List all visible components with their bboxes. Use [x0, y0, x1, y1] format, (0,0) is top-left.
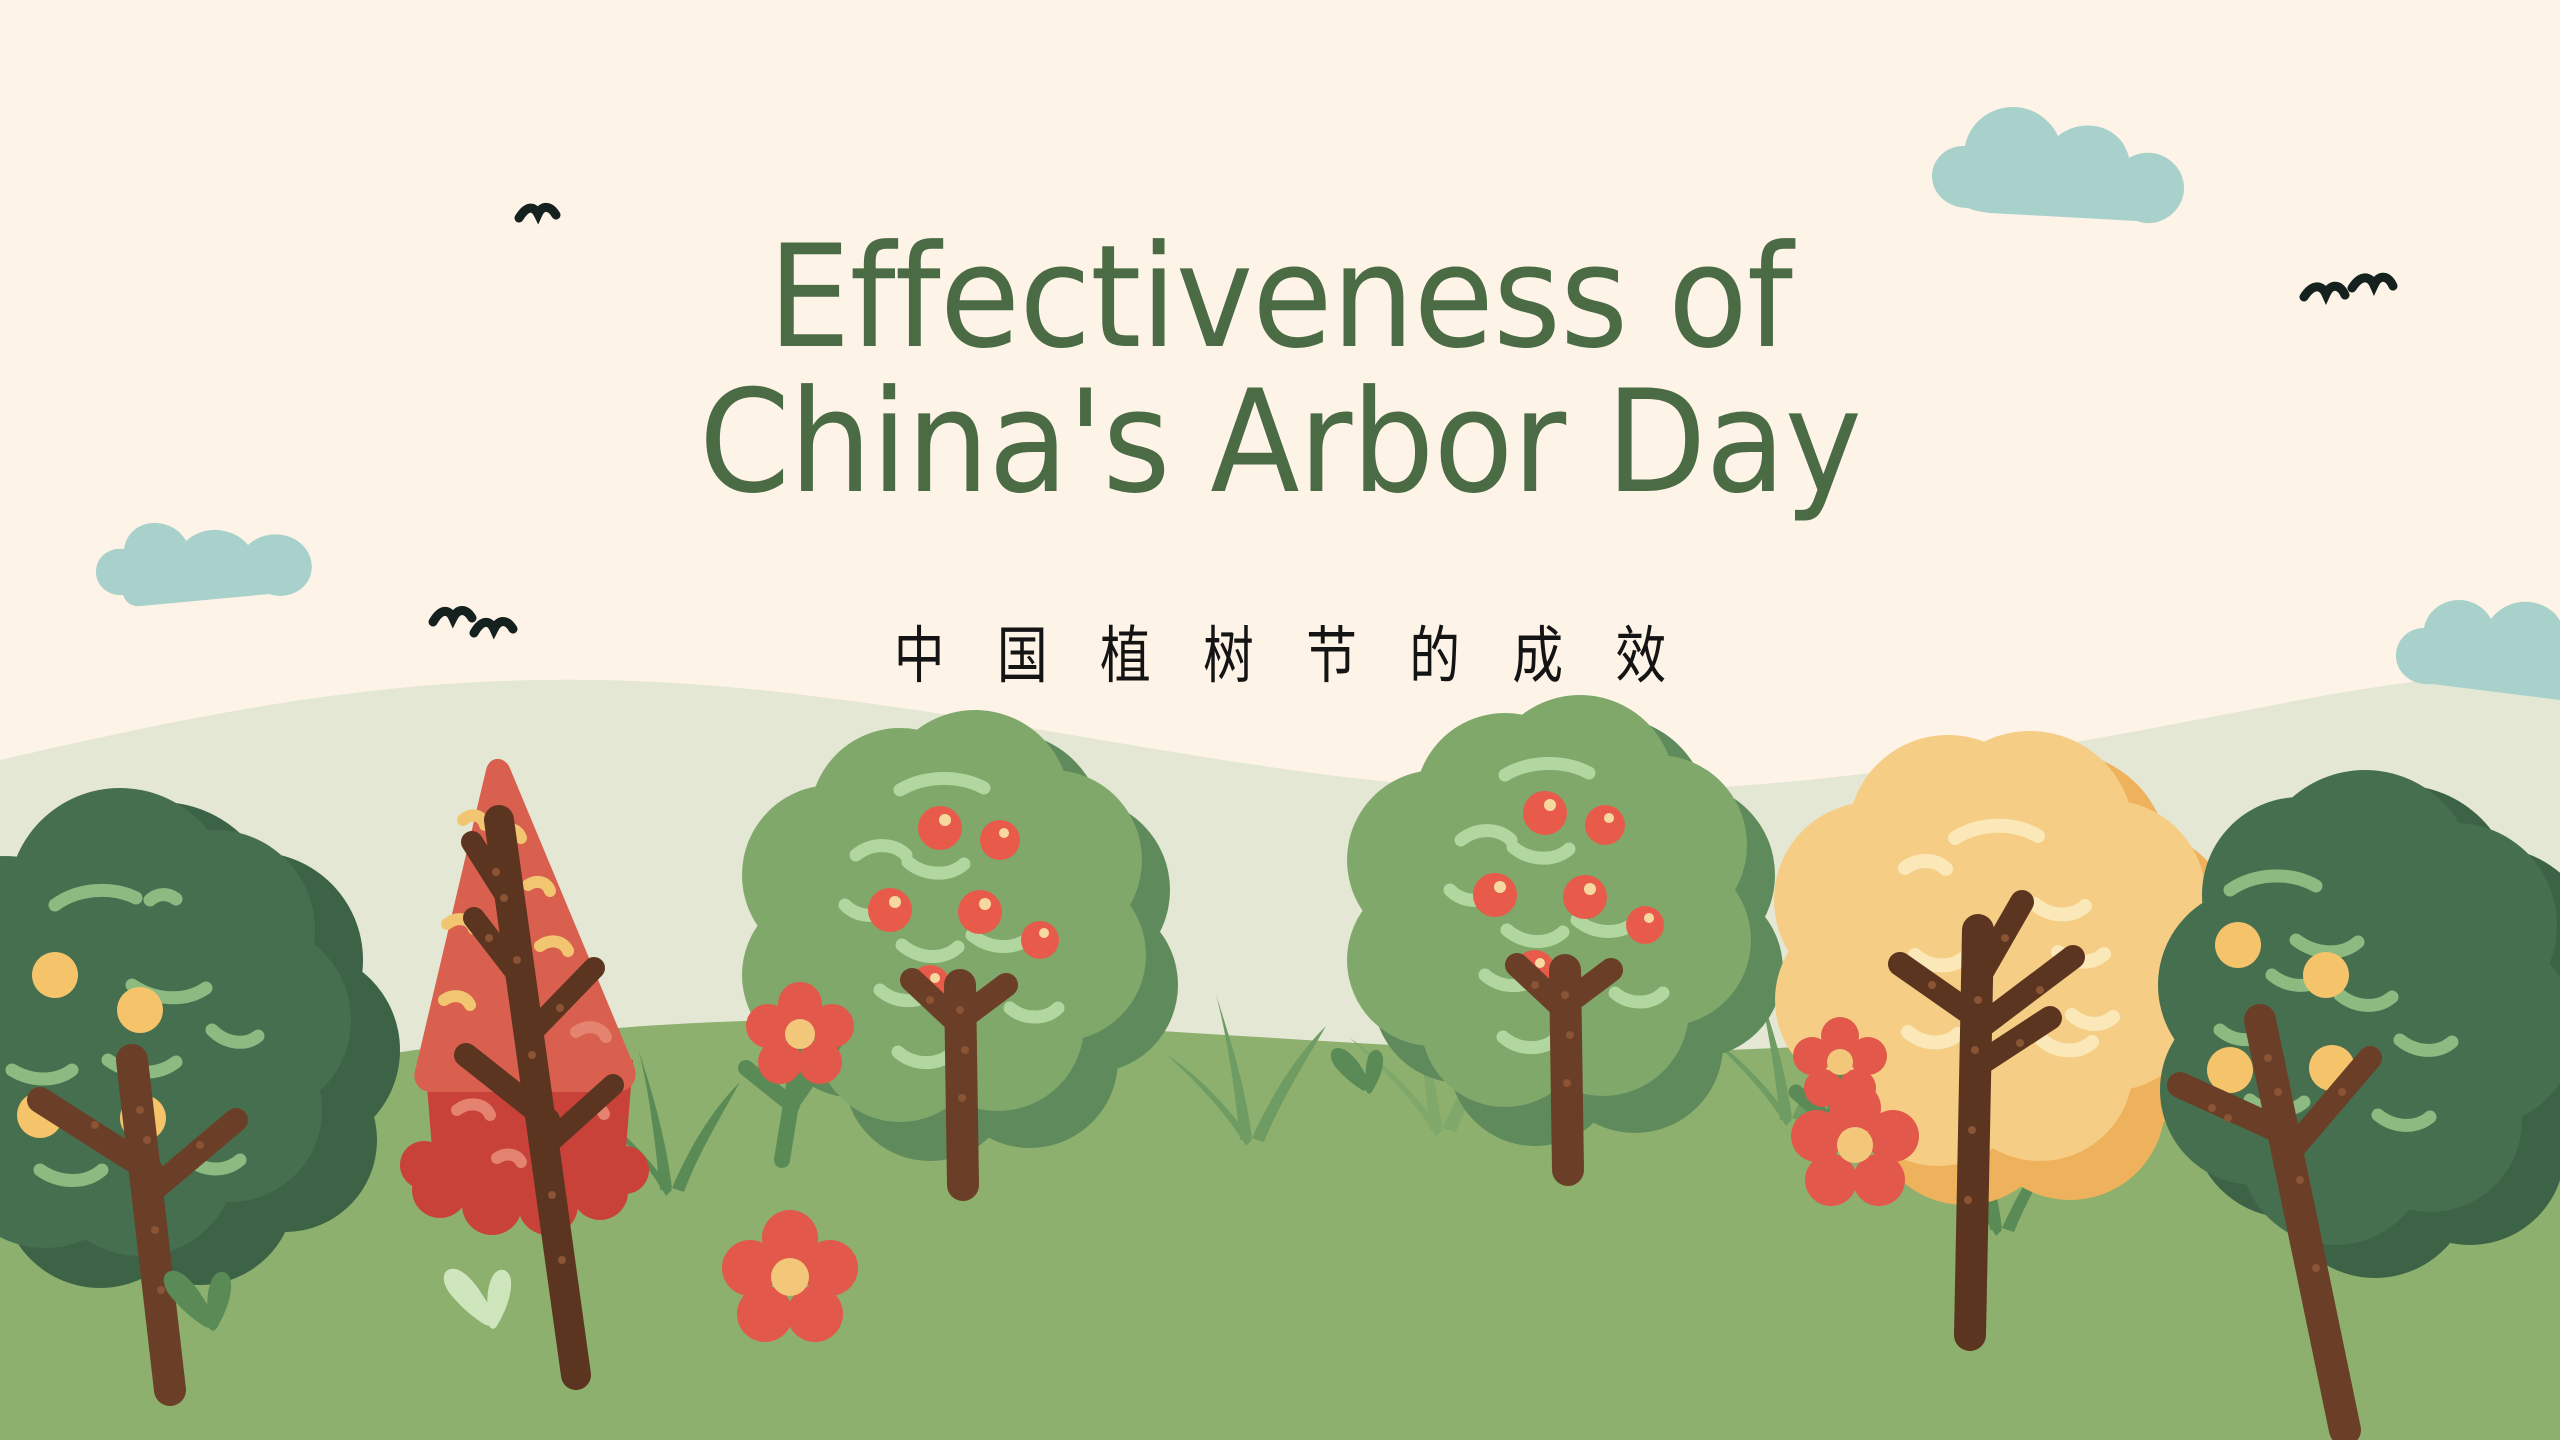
banner-poster: Effectiveness of China's Arbor Day 中 国 植…	[0, 0, 2560, 1440]
flower-center-lower-center	[771, 1258, 809, 1296]
flower-center-upper-center	[785, 1019, 815, 1049]
flower-right-upper-center	[1827, 1049, 1853, 1075]
flower-right-lower-center	[1837, 1127, 1873, 1163]
scene-illustration	[0, 0, 2560, 1440]
